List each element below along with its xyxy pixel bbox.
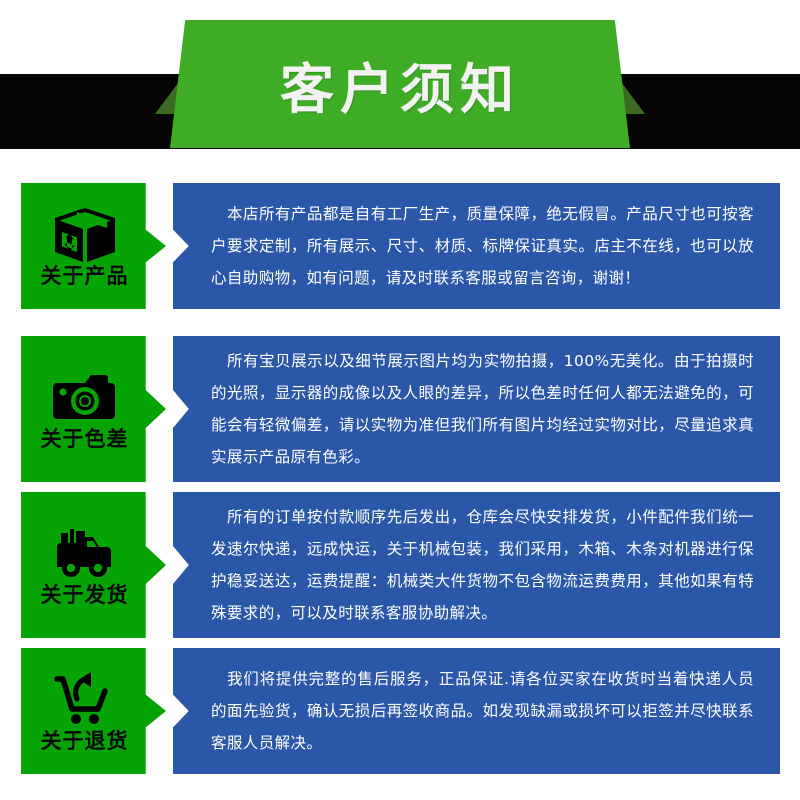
info-text-product: 本店所有产品都是自有工厂生产，质量保障，绝无假冒。产品尺寸也可按客户要求定制，所… bbox=[173, 198, 780, 294]
info-row-return: 关于退货 我们将提供完整的售后服务，正品保证.请各位买家在收货时当着快递人员的面… bbox=[21, 648, 780, 774]
info-text-shipping: 所有的订单按付款顺序先后发出，仓库会尽快安排发货，小件配件我们统一发速尔快递，远… bbox=[173, 501, 780, 629]
icon-caption-return: 关于退货 bbox=[41, 731, 129, 752]
info-row-color: 关于色差 所有宝贝展示以及细节展示图片均为实物拍摄，100%无美化。由于拍摄时的… bbox=[21, 336, 780, 482]
icon-card-return: 关于退货 bbox=[21, 648, 166, 774]
header-banner: 客户须知 bbox=[0, 0, 800, 160]
return-cart-icon bbox=[52, 671, 118, 729]
icon-card-shipping: 关于发货 bbox=[21, 492, 166, 638]
text-card-product: 本店所有产品都是自有工厂生产，质量保障，绝无假冒。产品尺寸也可按客户要求定制，所… bbox=[173, 183, 780, 309]
info-text-return: 我们将提供完整的售后服务，正品保证.请各位买家在收货时当着快递人员的面先验货，确… bbox=[173, 663, 780, 759]
text-card-return: 我们将提供完整的售后服务，正品保证.请各位买家在收货时当着快递人员的面先验货，确… bbox=[173, 648, 780, 774]
text-card-color: 所有宝贝展示以及细节展示图片均为实物拍摄，100%无美化。由于拍摄时的光照，显示… bbox=[173, 336, 780, 482]
icon-caption-shipping: 关于发货 bbox=[41, 585, 129, 606]
page-title: 客户须知 bbox=[170, 20, 630, 148]
info-row-product: 关于产品 本店所有产品都是自有工厂生产，质量保障，绝无假冒。产品尺寸也可按客户要… bbox=[21, 183, 780, 309]
package-box-icon bbox=[52, 206, 118, 264]
forklift-truck-icon bbox=[52, 525, 118, 583]
info-text-color: 所有宝贝展示以及细节展示图片均为实物拍摄，100%无美化。由于拍摄时的光照，显示… bbox=[173, 345, 780, 473]
camera-icon bbox=[52, 369, 118, 427]
icon-caption-color: 关于色差 bbox=[41, 429, 129, 450]
icon-caption-product: 关于产品 bbox=[41, 266, 129, 287]
icon-card-product: 关于产品 bbox=[21, 183, 166, 309]
text-card-shipping: 所有的订单按付款顺序先后发出，仓库会尽快安排发货，小件配件我们统一发速尔快递，远… bbox=[173, 492, 780, 638]
icon-card-color: 关于色差 bbox=[21, 336, 166, 482]
info-row-shipping: 关于发货 所有的订单按付款顺序先后发出，仓库会尽快安排发货，小件配件我们统一发速… bbox=[21, 492, 780, 638]
